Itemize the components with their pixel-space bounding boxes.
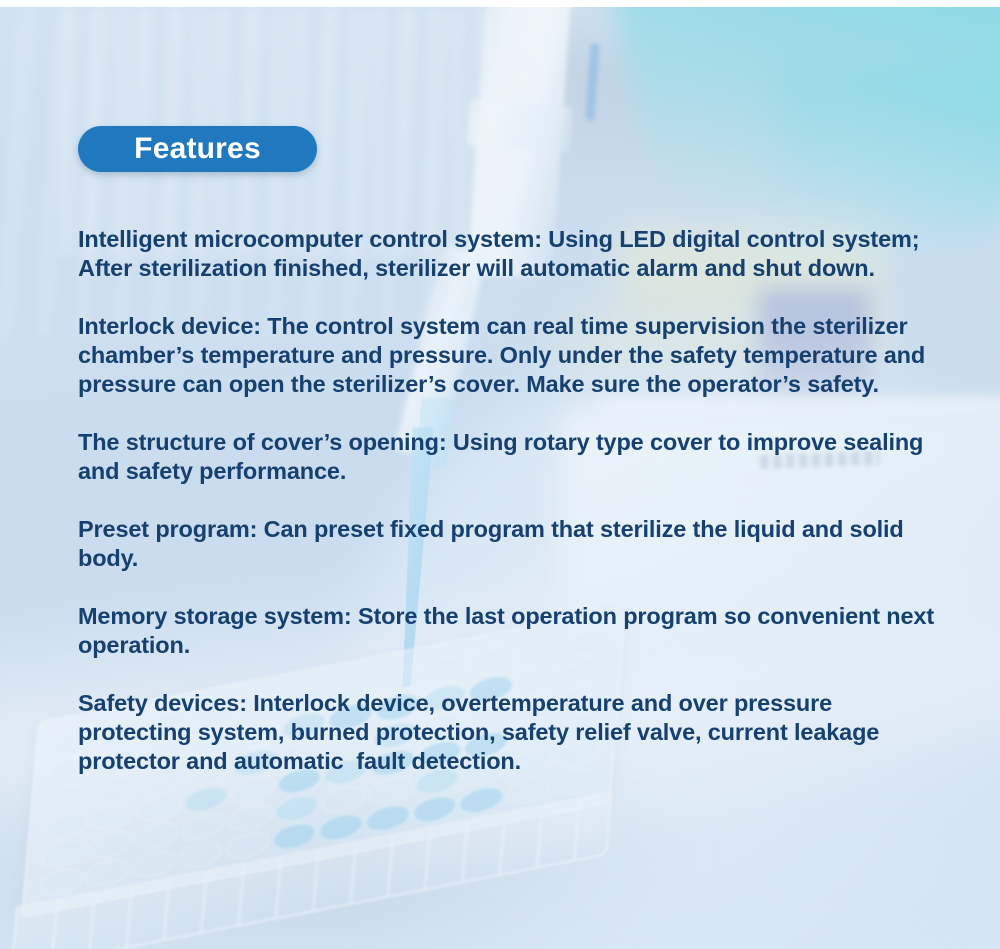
features-badge: Features [78, 126, 317, 172]
feature-item-interlock-device: Interlock device: The control system can… [78, 312, 948, 399]
features-banner: Features Intelligent microcomputer contr… [0, 0, 1000, 949]
feature-item-intelligent-control: Intelligent microcomputer control system… [78, 225, 948, 283]
feature-item-cover-structure: The structure of cover’s opening: Using … [78, 428, 948, 486]
content-overlay: Features Intelligent microcomputer contr… [0, 0, 1000, 949]
feature-item-preset-program: Preset program: Can preset fixed program… [78, 515, 948, 573]
features-list: Intelligent microcomputer control system… [78, 225, 948, 776]
features-badge-label: Features [134, 134, 261, 164]
feature-item-safety-devices: Safety devices: Interlock device, overte… [78, 689, 948, 776]
top-white-strip [0, 0, 1000, 7]
feature-item-memory-storage: Memory storage system: Store the last op… [78, 602, 948, 660]
